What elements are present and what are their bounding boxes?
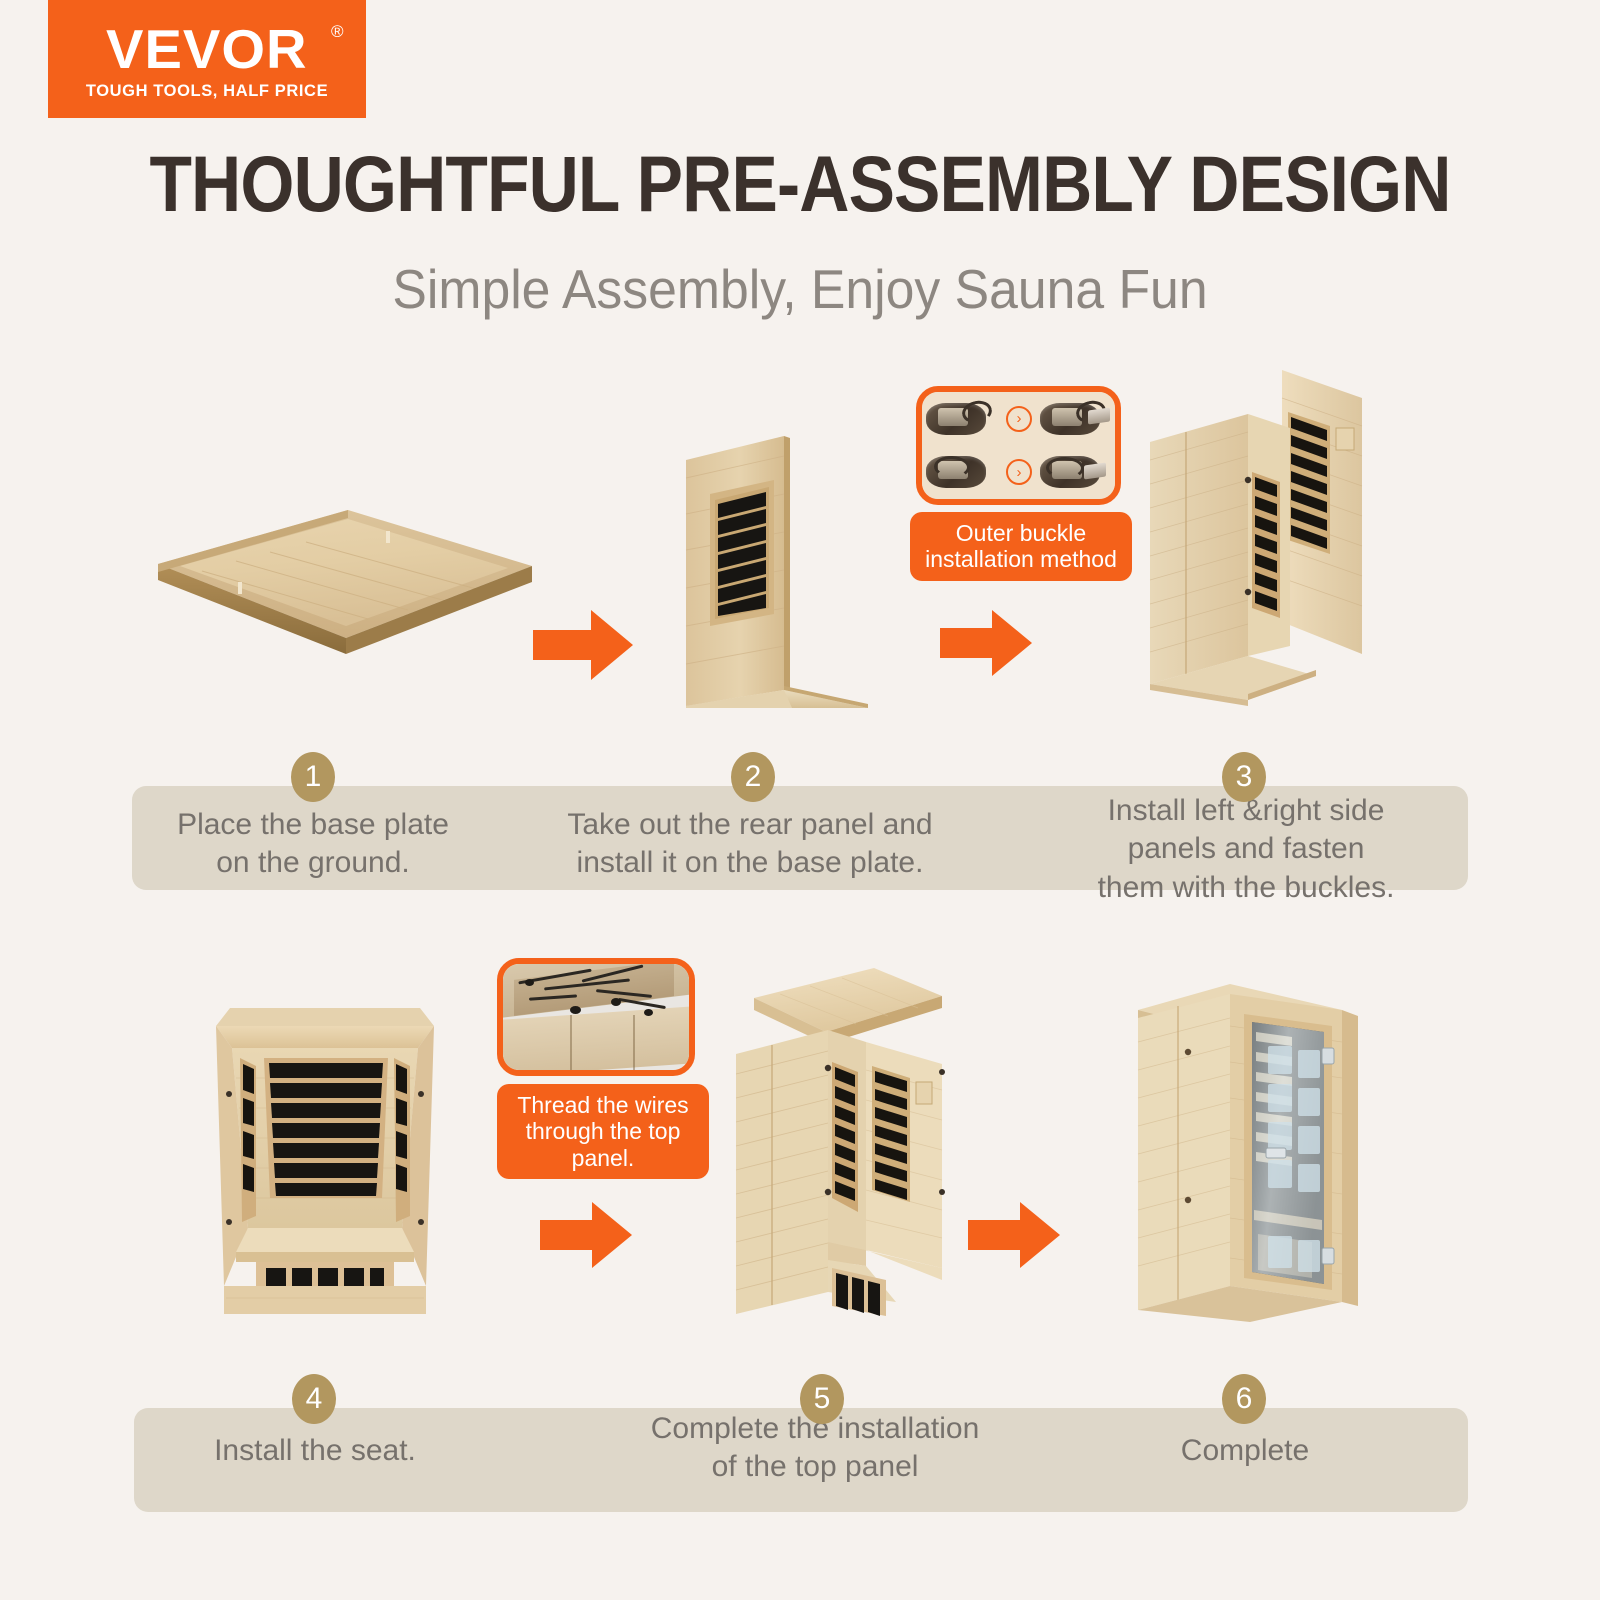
step-badge-1: 1 [291, 752, 335, 802]
step-caption-4: Install the seat. [160, 1432, 470, 1470]
chevron-right-icon: › [1006, 459, 1032, 485]
wiring-photo [503, 964, 689, 1070]
step-badge-3: 3 [1222, 752, 1266, 802]
top-panel-exploded-illustration [706, 950, 956, 1322]
arrow-step1-to-step2 [533, 608, 633, 682]
step-badge-2: 2 [731, 752, 775, 802]
step-caption-1: Place the base plate on the ground. [148, 806, 478, 883]
wiring-photo-box [497, 958, 695, 1076]
base-plate-illustration [150, 498, 540, 658]
page-title: THOUGHTFUL PRE-ASSEMBLY DESIGN [96, 144, 1504, 223]
buckle-photo [1036, 395, 1116, 443]
arrow-step4-to-step5 [540, 1200, 632, 1270]
arrow-step2-to-step3 [940, 608, 1032, 678]
seat-installed-illustration [196, 966, 454, 1318]
buckle-photo [922, 395, 1002, 443]
buckle-photo-grid: › › [922, 392, 1115, 499]
side-panels-assembly-illustration [1130, 356, 1370, 708]
step-caption-2: Take out the rear panel and install it o… [540, 806, 960, 883]
rear-panel-illustration [672, 418, 872, 708]
step-badge-5: 5 [800, 1374, 844, 1424]
buckle-photo-box: › › [916, 386, 1121, 505]
callout-label: Outer buckle installation method [910, 512, 1132, 581]
brand-name: VEVOR [106, 23, 308, 76]
step-caption-6: Complete [1100, 1432, 1390, 1470]
chevron-right-icon: › [1006, 406, 1032, 432]
page-subtitle: Simple Assembly, Enjoy Sauna Fun [48, 258, 1552, 321]
callout-thread-wires: Thread the wires through the top panel. [497, 958, 732, 1138]
completed-sauna-illustration [1126, 966, 1376, 1326]
vevor-logo: VEVOR TOUGH TOOLS, HALF PRICE [48, 0, 366, 118]
infographic-page: VEVOR TOUGH TOOLS, HALF PRICE ® THOUGHTF… [0, 0, 1600, 1600]
brand-tagline: TOUGH TOOLS, HALF PRICE [86, 82, 328, 101]
arrow-step5-to-step6 [968, 1200, 1060, 1270]
buckle-photo [922, 448, 1002, 496]
registered-trademark-icon: ® [331, 22, 344, 42]
step-badge-4: 4 [292, 1374, 336, 1424]
step-badge-6: 6 [1222, 1374, 1266, 1424]
buckle-photo [1036, 448, 1116, 496]
callout-label: Thread the wires through the top panel. [497, 1084, 709, 1179]
callout-outer-buckle: › › Outer buckle installation method [916, 386, 1131, 566]
step-caption-3: Install left &right side panels and fast… [1052, 792, 1440, 907]
